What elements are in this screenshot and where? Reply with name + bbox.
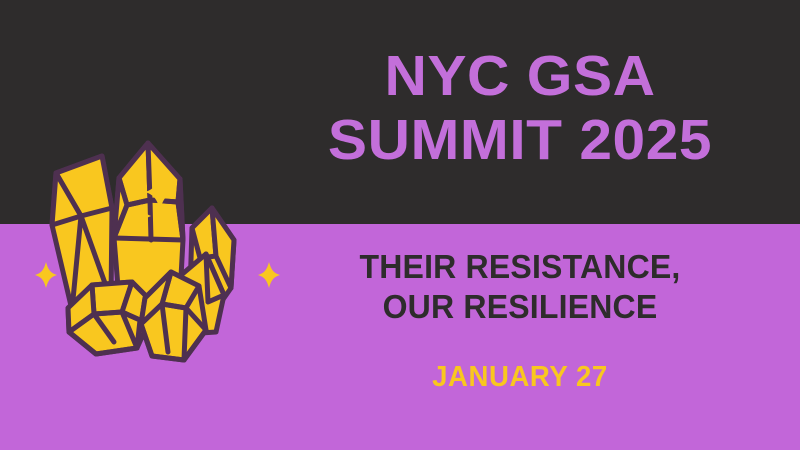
- crystal-cluster-illustration: [10, 80, 290, 370]
- event-title: NYC GSA SUMMIT 2025: [270, 44, 770, 172]
- event-subtitle: THEIR RESISTANCE, OUR RESILIENCE: [270, 247, 770, 327]
- subtitle-line-1: THEIR RESISTANCE,: [278, 247, 763, 287]
- crystal-group: [52, 143, 234, 360]
- event-flyer: NYC GSA SUMMIT 2025 THEIR RESISTANCE, OU…: [0, 0, 800, 450]
- text-column: NYC GSA SUMMIT 2025 THEIR RESISTANCE, OU…: [270, 0, 770, 450]
- subtitle-line-2: OUR RESILIENCE: [278, 287, 763, 327]
- date-text: JANUARY 27: [283, 360, 758, 394]
- title-line-2: SUMMIT 2025: [263, 108, 778, 172]
- event-date: JANUARY 27: [270, 360, 770, 394]
- title-line-1: NYC GSA: [263, 44, 778, 108]
- sparkle-left: [35, 262, 57, 288]
